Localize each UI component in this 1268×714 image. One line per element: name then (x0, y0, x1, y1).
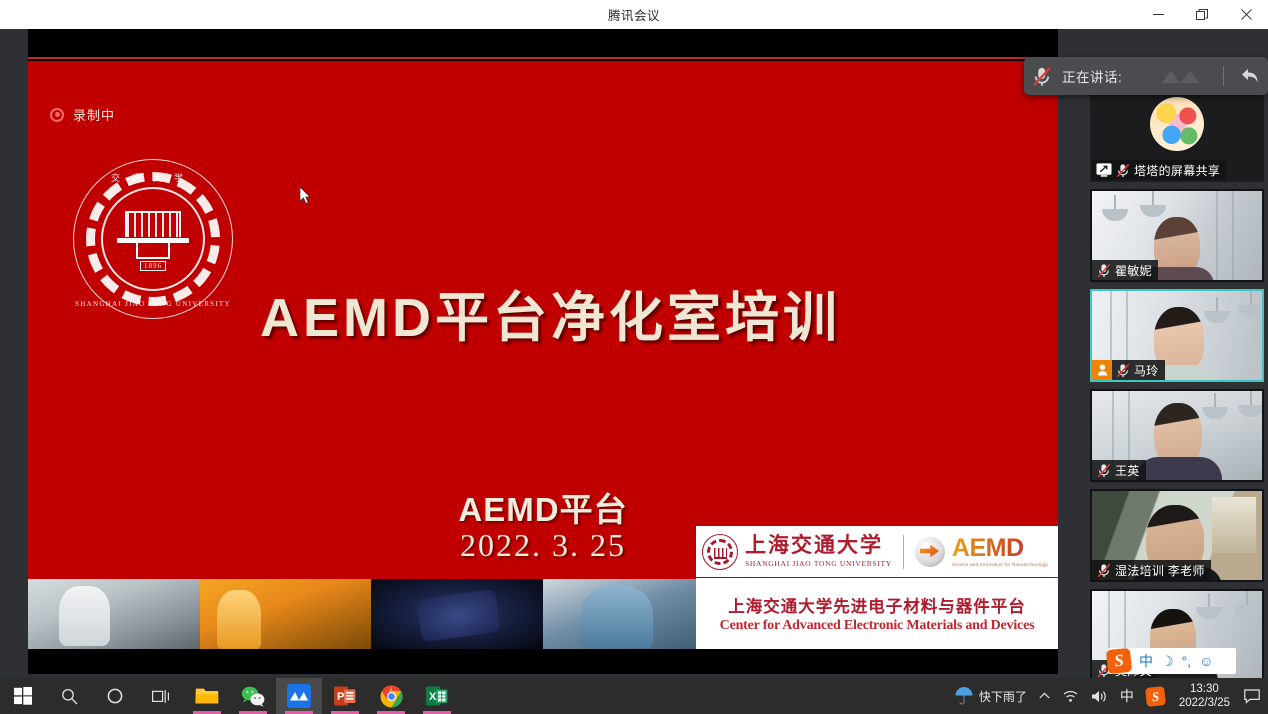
aemd-wordmark: AEMD (952, 536, 1048, 561)
volume-icon (1091, 689, 1108, 704)
shared-screen-frame[interactable]: 录制中 交通大学 1896 SHANGHAI JIAO TONG UNIVERS… (28, 57, 1058, 674)
mic-muted-icon[interactable] (1032, 66, 1052, 87)
photo-wafer (371, 579, 543, 649)
volume-button[interactable] (1085, 678, 1114, 714)
participant-tile[interactable]: 湿法培训 李老师 (1090, 489, 1264, 582)
minimize-icon (1153, 9, 1164, 20)
participant-tile[interactable]: 王英 (1090, 389, 1264, 482)
task-view-button[interactable] (138, 678, 184, 714)
ime-moon-icon[interactable]: ☽ (1161, 653, 1174, 670)
center-name-cn: 上海交通大学先进电子材料与器件平台 (728, 593, 1026, 617)
chrome-button[interactable] (368, 678, 414, 714)
tencent-meeting-logo-icon (1160, 67, 1202, 85)
speaking-toolbar[interactable]: 正在讲话: (1024, 57, 1268, 95)
sjtu-mini-seal-icon (702, 534, 738, 570)
powerpoint-icon: P (334, 685, 356, 707)
aemd-tagline: Service and Innovation for Nanotechnolog… (952, 562, 1048, 567)
participant-name: 马玲 (1134, 362, 1159, 379)
center-name-en: Center for Advanced Electronic Materials… (720, 618, 1035, 634)
svg-text:X: X (429, 691, 437, 703)
task-view-icon (152, 689, 170, 704)
participant-panel: 塔塔的屏幕共享 (1058, 58, 1268, 707)
search-icon (61, 688, 78, 705)
ime-punctuation-toggle[interactable]: °, (1182, 653, 1192, 669)
wifi-button[interactable] (1056, 678, 1085, 714)
window-controls (1136, 0, 1268, 29)
person-icon (1097, 364, 1108, 376)
windows-taskbar: P X (0, 678, 1268, 714)
mic-muted-icon (1116, 363, 1130, 378)
tencent-meeting-button[interactable] (276, 678, 322, 714)
seal-year: 1896 (140, 261, 166, 271)
seal-arc-top-text: 交通大学 (73, 171, 233, 184)
system-tray: 快下雨了 (948, 678, 1268, 714)
participant-namebar: 瞿敏妮 (1092, 260, 1158, 280)
slide-subtitle: AEMD平台 (28, 483, 1058, 531)
university-name-cn: 上海交通大学 (745, 535, 892, 556)
start-button[interactable] (0, 678, 46, 714)
logo-divider (903, 535, 904, 569)
powerpoint-button[interactable]: P (322, 678, 368, 714)
ime-emoji-icon[interactable]: ☺ (1199, 653, 1213, 669)
mic-muted-icon (1116, 163, 1130, 178)
weather-widget[interactable]: 快下雨了 (948, 678, 1033, 714)
slide-title: AEMD平台净化室培训 (260, 273, 841, 352)
photo-cleanroom-2 (200, 579, 372, 649)
recording-indicator: 录制中 (50, 105, 115, 124)
host-badge (1092, 360, 1112, 380)
back-arrow-icon[interactable] (1240, 67, 1260, 85)
clock-date: 2022/3/25 (1179, 696, 1230, 710)
mic-muted-icon (1097, 263, 1111, 278)
cortana-button[interactable] (92, 678, 138, 714)
sogou-tray-button[interactable]: S (1140, 678, 1171, 714)
search-button[interactable] (46, 678, 92, 714)
notification-icon (1244, 689, 1260, 704)
speaking-label: 正在讲话: (1062, 66, 1122, 86)
share-top-band (28, 29, 1058, 57)
mic-muted-icon (1097, 563, 1111, 578)
file-explorer-button[interactable] (184, 678, 230, 714)
umbrella-icon (954, 686, 974, 706)
recording-label: 录制中 (73, 105, 115, 124)
minimize-button[interactable] (1136, 0, 1180, 29)
maximize-button[interactable] (1180, 0, 1224, 29)
meeting-window-body: 录制中 交通大学 1896 SHANGHAI JIAO TONG UNIVERS… (0, 29, 1268, 678)
aemd-mark-icon (915, 537, 945, 567)
sjtu-seal-icon: 交通大学 1896 SHANGHAI JIAO TONG UNIVERSITY (73, 159, 233, 319)
svg-text:P: P (337, 691, 344, 703)
photo-cleanroom-1 (28, 579, 200, 649)
wifi-icon (1062, 689, 1079, 703)
ime-indicator[interactable]: 中 (1114, 678, 1140, 714)
excel-icon: X (426, 685, 448, 707)
screen-share-icon (1096, 162, 1112, 178)
weather-text: 快下雨了 (979, 688, 1027, 705)
participant-name: 王英 (1115, 462, 1140, 479)
tray-expand-button[interactable] (1033, 678, 1056, 714)
participant-namebar: 王英 (1092, 460, 1146, 480)
toolbar-divider (1223, 66, 1224, 86)
participant-namebar: 湿法培训 李老师 (1092, 560, 1211, 580)
window-title: 腾讯会议 (608, 5, 660, 24)
sogou-ime-floating-bar[interactable]: S 中 ☽ °, ☺ (1108, 648, 1236, 674)
avatar (1150, 97, 1204, 151)
windows-logo-icon (14, 687, 32, 705)
seal-arc-bottom-text: SHANGHAI JIAO TONG UNIVERSITY (73, 300, 233, 308)
participant-name: 塔塔的屏幕共享 (1134, 162, 1220, 179)
participant-tile-list: 塔塔的屏幕共享 (1090, 89, 1268, 689)
sogou-logo-icon[interactable]: S (1106, 648, 1132, 674)
notification-center-button[interactable] (1238, 678, 1266, 714)
chrome-icon (380, 685, 403, 708)
slide-logo-block: 上海交通大学 SHANGHAI JIAO TONG UNIVERSITY AEM… (696, 526, 1058, 649)
mic-muted-icon (1097, 463, 1111, 478)
excel-button[interactable]: X (414, 678, 460, 714)
participant-namebar: 马玲 (1092, 360, 1165, 380)
clock[interactable]: 13:30 2022/3/25 (1171, 678, 1238, 714)
restore-icon (1196, 9, 1208, 21)
photo-cleanroom-3 (543, 579, 715, 649)
wechat-button[interactable] (230, 678, 276, 714)
participant-tile[interactable]: 瞿敏妮 (1090, 189, 1264, 282)
sogou-logo-icon: S (1145, 686, 1166, 707)
folder-icon (195, 686, 219, 706)
mouse-cursor-icon (300, 187, 312, 205)
participant-tile[interactable]: 马玲 (1090, 289, 1264, 382)
wechat-icon (241, 686, 265, 707)
participant-namebar: 塔塔的屏幕共享 (1092, 160, 1226, 180)
ime-mode-toggle[interactable]: 中 (1139, 651, 1153, 671)
cortana-circle-icon (107, 688, 123, 704)
presentation-slide: 录制中 交通大学 1896 SHANGHAI JIAO TONG UNIVERS… (28, 61, 1058, 649)
participant-name: 瞿敏妮 (1115, 262, 1152, 279)
tencent-meeting-icon (287, 684, 311, 708)
participant-tile[interactable]: 塔塔的屏幕共享 (1090, 89, 1264, 182)
chevron-up-icon (1039, 692, 1050, 700)
close-icon (1241, 9, 1252, 20)
screen-root: 腾讯会议 (0, 0, 1268, 714)
clock-time: 13:30 (1190, 682, 1219, 696)
recording-dot-icon (50, 108, 64, 122)
left-gutter (0, 29, 28, 649)
university-name-en: SHANGHAI JIAO TONG UNIVERSITY (745, 559, 892, 568)
window-title-bar: 腾讯会议 (0, 0, 1268, 29)
close-button[interactable] (1224, 0, 1268, 29)
participant-name: 湿法培训 李老师 (1115, 562, 1205, 579)
ime-mode-label: 中 (1120, 686, 1134, 706)
